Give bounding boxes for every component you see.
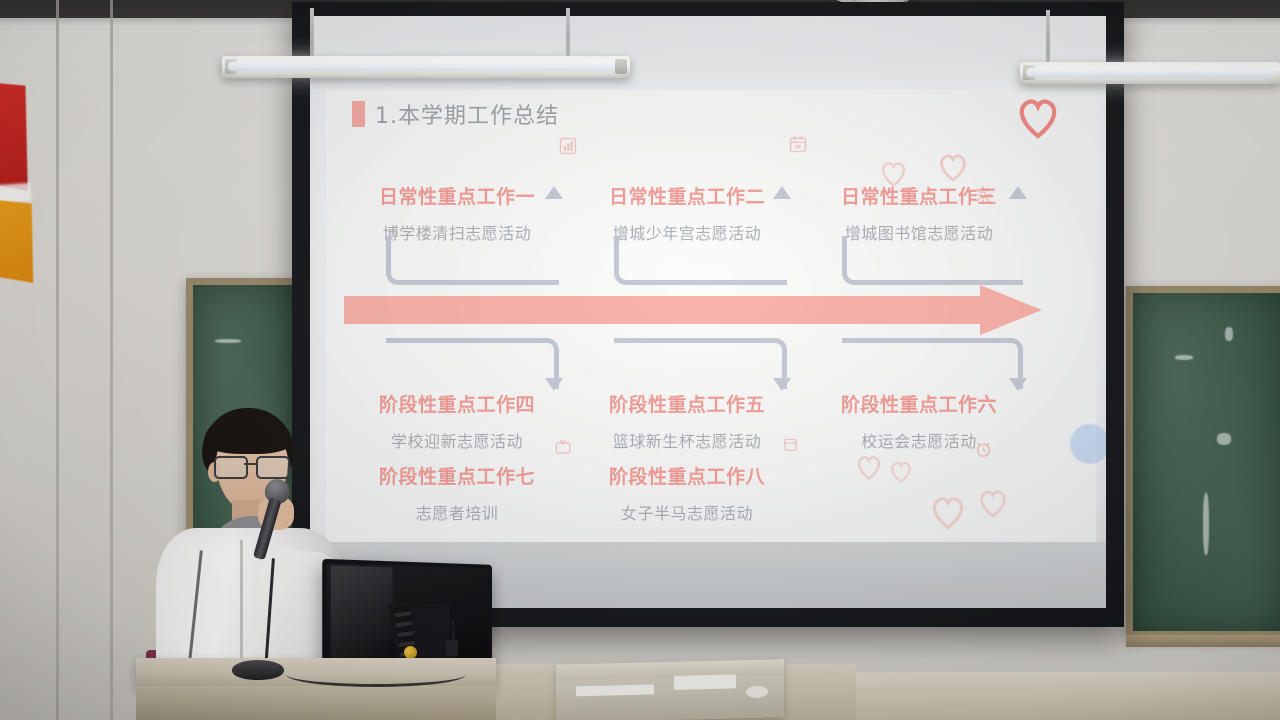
computer-mouse[interactable]: [232, 660, 284, 680]
monitor-glare: [331, 565, 393, 660]
glasses-lens: [256, 456, 290, 479]
back-counter: [850, 672, 1280, 720]
node-3-heading: 日常性重点工作三: [806, 182, 1032, 209]
chalk-mark: [1225, 327, 1233, 341]
poster-orange-panel: [0, 197, 37, 286]
slide-content: 1.本学期工作总结: [326, 90, 1096, 542]
heart-icon: [888, 460, 914, 484]
node-8: 阶段性重点工作八 女子半马志愿活动: [578, 462, 796, 524]
connector-down-3: [842, 338, 1023, 389]
heart-icon: [854, 454, 884, 481]
fluorescent-lamp-left: [222, 56, 630, 78]
lamp-hanger: [1046, 10, 1050, 66]
connector-down-2: [614, 338, 787, 389]
chalk-mark: [1217, 433, 1231, 445]
heart-icon: [976, 488, 1010, 519]
blackboard-right: [1126, 286, 1280, 638]
blue-dot-decoration: [1070, 424, 1106, 464]
connector-up-3: [842, 236, 1023, 285]
glasses-bridge: [244, 463, 256, 465]
cable-plug: [446, 640, 458, 656]
lamp-hanger: [566, 8, 570, 60]
timeline-arrow: [344, 296, 1044, 324]
node-2-heading: 日常性重点工作二: [578, 182, 796, 209]
tv-icon: [554, 438, 574, 458]
desk-cable: [286, 662, 466, 687]
node-6-heading: 阶段性重点工作六: [806, 390, 1032, 417]
connector-up-1: [386, 236, 559, 285]
timeline-arrow-head: [980, 285, 1042, 335]
calendar-small-icon: [782, 436, 802, 456]
page-title: 1.本学期工作总结: [375, 98, 559, 130]
alarm-clock-icon: [974, 440, 993, 463]
box-label: [674, 674, 736, 690]
chalk-mark: [1175, 355, 1193, 360]
fluorescent-lamp-right: [1020, 62, 1280, 84]
lamp-tube: [228, 62, 624, 71]
node-1-heading: 日常性重点工作一: [348, 182, 566, 209]
node-5-sub: 篮球新生杯志愿活动: [578, 428, 796, 452]
wall-seam-left-2: [110, 0, 113, 720]
heart-icon: [1014, 96, 1062, 140]
lamp-hanger: [310, 8, 314, 60]
classroom-scene: 1.本学期工作总结: [0, 0, 1280, 720]
arrow-up-icon: [1009, 186, 1027, 199]
slide-title-row: 1.本学期工作总结: [352, 98, 559, 130]
node-2: 日常性重点工作二 增城少年宫志愿活动: [578, 182, 796, 244]
heart-icon: [936, 152, 970, 183]
node-8-sub: 女子半马志愿活动: [578, 500, 796, 524]
chalk-mark: [1203, 493, 1209, 555]
calendar-icon: [788, 134, 808, 154]
wall-seam-left: [56, 0, 59, 720]
connector-down-1: [386, 338, 559, 389]
box-tape: [746, 686, 768, 699]
chalk-tray: [1126, 635, 1280, 647]
node-8-heading: 阶段性重点工作八: [578, 462, 796, 489]
connector-up-2: [614, 236, 787, 285]
heart-icon: [928, 494, 968, 531]
projection-screen-surface: 1.本学期工作总结: [310, 16, 1106, 608]
cardboard-box: [556, 659, 784, 720]
heart-icon: [878, 160, 909, 188]
node-6: 阶段性重点工作六 校运会志愿活动: [806, 390, 1032, 452]
chalk-mark: [215, 339, 241, 343]
node-1: 日常性重点工作一 博学楼清扫志愿活动: [348, 182, 566, 244]
bar-chart-icon: [558, 136, 578, 156]
timeline-arrow-shaft: [344, 296, 984, 324]
projection-screen-frame: 1.本学期工作总结: [292, 2, 1124, 627]
title-accent-block: [352, 101, 365, 127]
node-5: 阶段性重点工作五 篮球新生杯志愿活动: [578, 390, 796, 452]
lamp-tube: [1026, 68, 1274, 77]
lamp-cap: [615, 59, 627, 74]
node-3: 日常性重点工作三 增城图书馆志愿活动: [806, 182, 1032, 244]
glasses-lens: [214, 456, 248, 479]
arrow-up-icon: [545, 186, 563, 199]
projected-slide: 1.本学期工作总结: [326, 90, 1096, 542]
box-label: [576, 684, 654, 696]
node-5-heading: 阶段性重点工作五: [578, 390, 796, 417]
podium-front-edge: [136, 686, 496, 720]
gear-icon: [974, 186, 992, 208]
poster-red-panel: [0, 79, 33, 194]
poster-white-strip: [0, 183, 31, 204]
arrow-up-icon: [773, 186, 791, 199]
glasses-icon: [212, 456, 294, 476]
node-6-sub: 校运会志愿活动: [806, 428, 1032, 452]
